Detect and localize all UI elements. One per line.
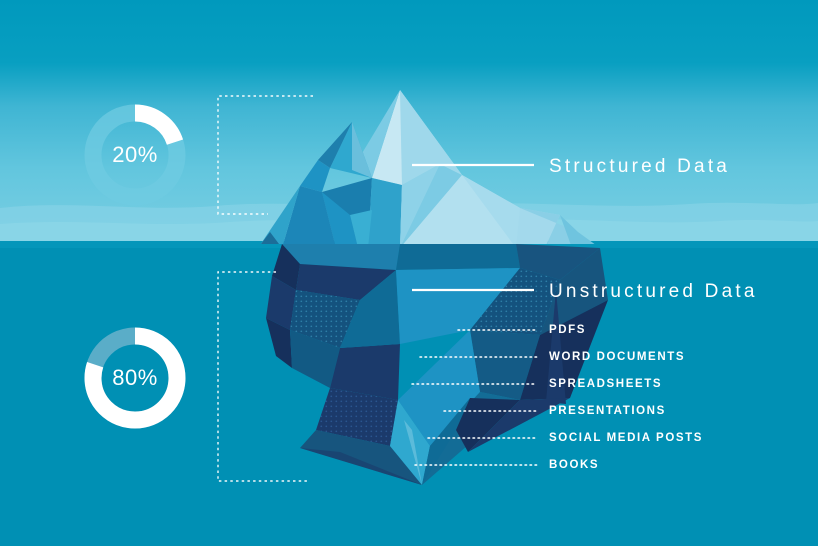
- unstructured-item-books: BOOKS: [549, 459, 599, 471]
- callout-unstructured-data: Unstructured Data: [549, 281, 758, 303]
- donut-value-label-unstructured: 80%: [80, 323, 190, 433]
- callout-structured-data: Structured Data: [549, 156, 730, 178]
- unstructured-item-social-media-posts: SOCIAL MEDIA POSTS: [549, 432, 703, 444]
- donut-chart-structured[interactable]: 20%: [80, 100, 190, 210]
- unstructured-item-word-documents: WORD DOCUMENTS: [549, 351, 685, 363]
- donut-chart-unstructured[interactable]: 80%: [80, 323, 190, 433]
- unstructured-item-presentations: PRESENTATIONS: [549, 405, 666, 417]
- unstructured-item-spreadsheets: SPREADSHEETS: [549, 378, 662, 390]
- donut-value-label-structured: 20%: [80, 100, 190, 210]
- unstructured-item-pdfs: PDFS: [549, 324, 586, 336]
- infographic-canvas: 20% 80% Structured Data Unstructured Dat…: [0, 0, 818, 546]
